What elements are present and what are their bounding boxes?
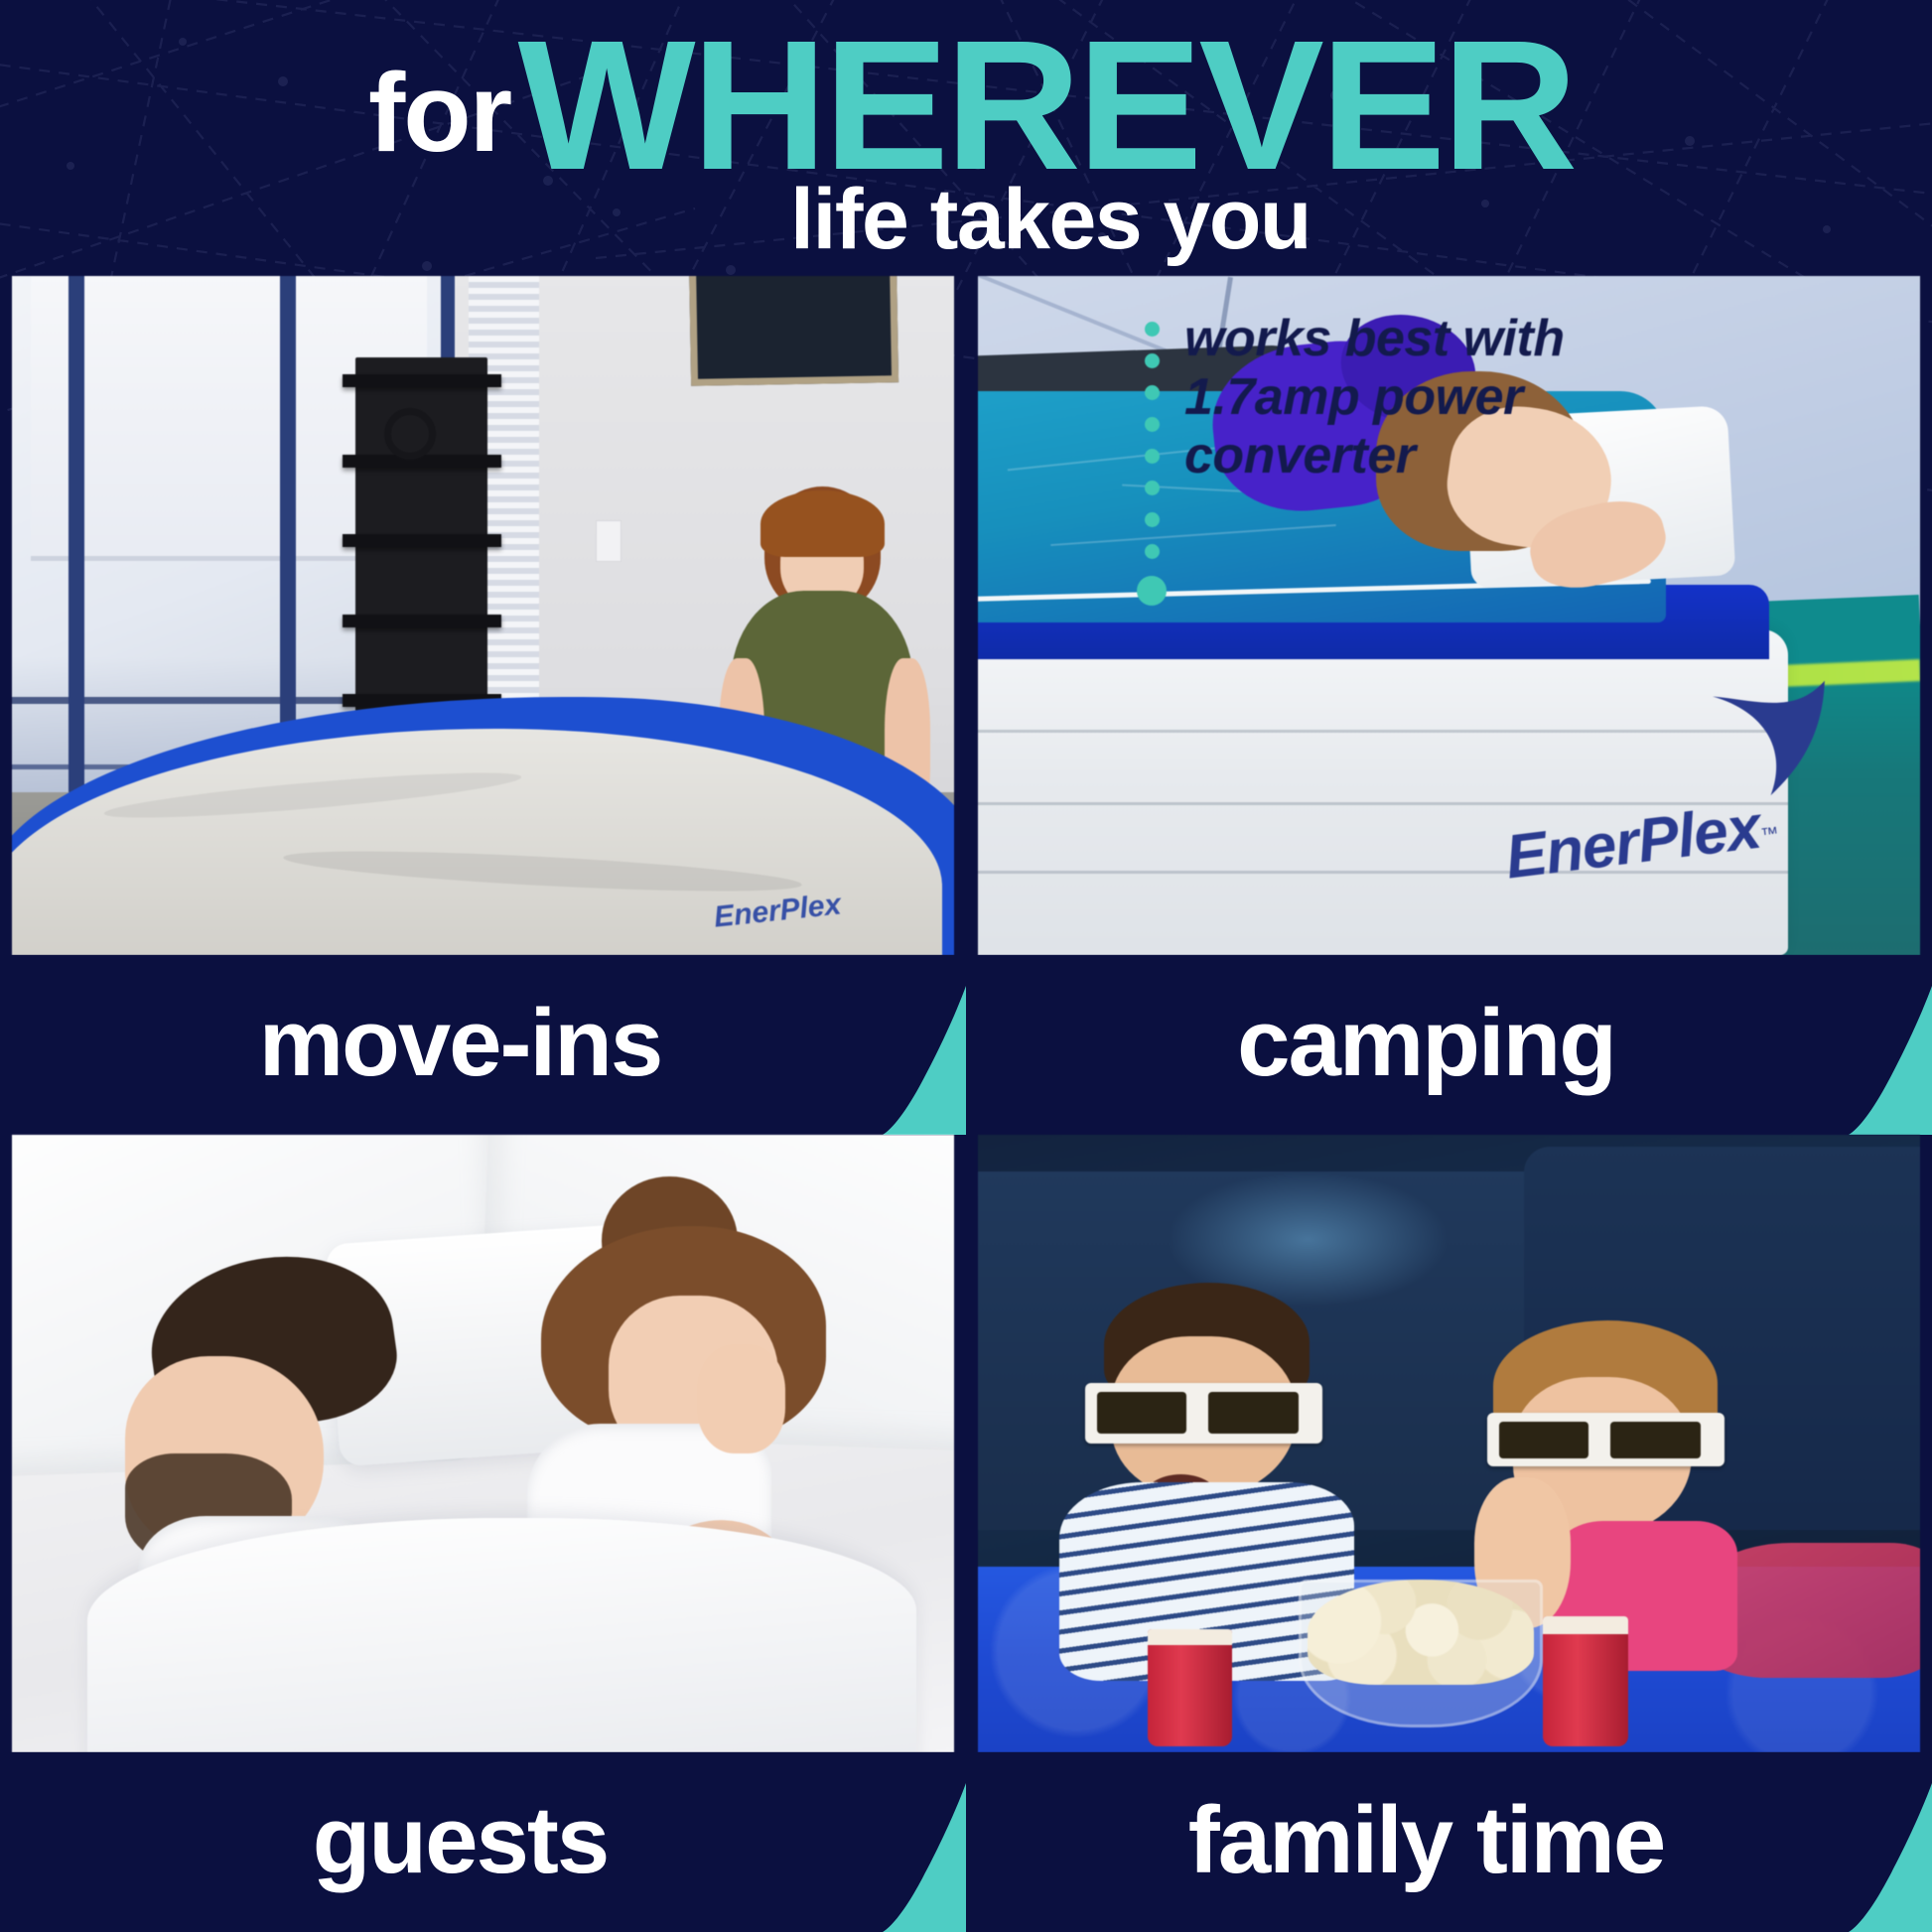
decor-ring <box>384 408 436 460</box>
caption-band-guests: guests <box>0 1752 966 1932</box>
caption-move-ins: move-ins <box>0 996 966 1091</box>
headline-line-2: life takes you <box>0 177 1932 262</box>
3d-glasses-icon <box>1085 1383 1322 1445</box>
panel-image-move-ins: EnerPlex <box>12 276 954 955</box>
wall-art-frame <box>689 276 898 386</box>
panel-image-family-time <box>978 1135 1920 1752</box>
caption-band-move-ins: move-ins <box>0 955 966 1135</box>
light-switch <box>596 520 621 562</box>
red-cup <box>1543 1616 1627 1746</box>
panel-image-guests <box>12 1135 954 1752</box>
enerplex-logo-mark <box>1707 676 1847 808</box>
panel-image-camping: EnerPlex™ works best with 1.7amp power c… <box>978 276 1920 955</box>
header: forWHEREVER life takes you <box>0 0 1932 276</box>
callout-dotted-line <box>1141 322 1163 606</box>
popcorn <box>1308 1580 1534 1685</box>
caption-family-time: family time <box>966 1793 1932 1888</box>
caption-guests: guests <box>0 1793 966 1888</box>
red-cup <box>1148 1629 1232 1746</box>
caption-camping: camping <box>966 996 1932 1091</box>
teal-corner-accent <box>883 986 966 1135</box>
3d-glasses-icon <box>1487 1413 1725 1466</box>
callout-text: works best with 1.7amp power converter <box>1184 310 1565 484</box>
teal-corner-accent <box>1849 986 1932 1135</box>
teal-corner-accent <box>883 1783 966 1932</box>
headline-word-for: for <box>368 58 510 169</box>
product-infographic: forWHEREVER life takes you <box>0 0 1932 1932</box>
duvet <box>87 1518 916 1752</box>
teal-corner-accent <box>1849 1783 1932 1932</box>
caption-band-camping: camping <box>966 955 1932 1135</box>
caption-band-family-time: family time <box>966 1752 1932 1932</box>
air-mattress <box>978 629 1788 955</box>
trademark-symbol: ™ <box>1760 822 1780 844</box>
